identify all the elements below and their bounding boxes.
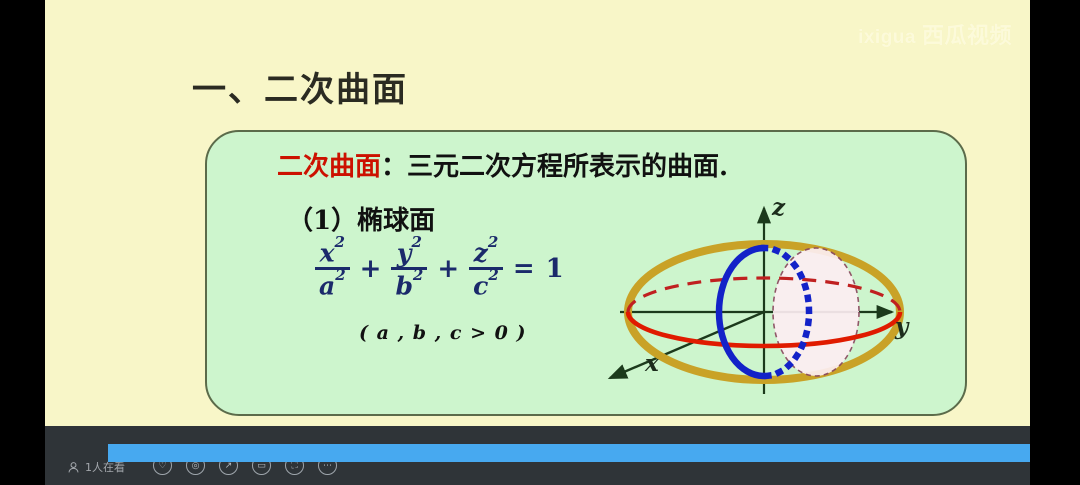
- letterbox-left: [0, 0, 45, 426]
- video-player-screen: ixigua西瓜视频 一、二次曲面 二次曲面：三元二次方程所表示的曲面. （1）…: [0, 0, 1080, 485]
- definition-line: 二次曲面：三元二次方程所表示的曲面.: [277, 146, 728, 183]
- denominator-a: a2: [315, 267, 350, 298]
- axis-label-z: z: [772, 194, 785, 221]
- item-label: （1）椭球面: [287, 200, 435, 237]
- operator-plus-1: +: [359, 254, 383, 284]
- progress-bar-fill: [108, 444, 1030, 462]
- definition-keyword: 二次曲面: [277, 152, 381, 182]
- fraction-z-over-c: z2 c2: [469, 240, 503, 299]
- content-panel: 二次曲面：三元二次方程所表示的曲面. （1）椭球面 x2 a2 + y2 b2 …: [205, 130, 967, 416]
- page-title: 一、二次曲面: [192, 62, 408, 111]
- numerator-x: x2: [316, 240, 349, 267]
- definition-rest: ：三元二次方程所表示的曲面.: [381, 152, 728, 182]
- operator-equals: =: [512, 254, 536, 284]
- front-section-disk: [773, 248, 859, 376]
- denominator-b: b2: [391, 267, 427, 298]
- numerator-y: y2: [393, 240, 426, 267]
- watermark-text-en: ixigua: [858, 27, 916, 48]
- ellipsoid-equation: x2 a2 + y2 b2 + z2 c2 = 1: [315, 240, 565, 299]
- axis-label-x: x: [645, 350, 659, 377]
- letterbox-bottom-left: [0, 426, 45, 485]
- denominator-c: c2: [469, 267, 503, 298]
- watermark-text-cn: 西瓜视频: [922, 23, 1012, 48]
- watermark: ixigua西瓜视频: [858, 18, 1012, 50]
- axis-label-y: y: [895, 313, 908, 340]
- letterbox-right: [1030, 0, 1080, 485]
- equation-rhs: 1: [545, 254, 565, 284]
- numerator-z: z2: [470, 240, 503, 267]
- person-icon: [67, 461, 80, 474]
- progress-bar-track[interactable]: [108, 444, 1030, 462]
- slide-canvas: ixigua西瓜视频 一、二次曲面 二次曲面：三元二次方程所表示的曲面. （1）…: [45, 0, 1030, 426]
- fraction-x-over-a: x2 a2: [315, 240, 350, 299]
- equation-condition: ( a , b , c > 0 ): [359, 322, 526, 344]
- ellipsoid-figure: z y x: [592, 198, 922, 403]
- ellipsoid-svg: [592, 198, 922, 403]
- fraction-y-over-b: y2 b2: [391, 240, 427, 299]
- operator-plus-2: +: [436, 254, 460, 284]
